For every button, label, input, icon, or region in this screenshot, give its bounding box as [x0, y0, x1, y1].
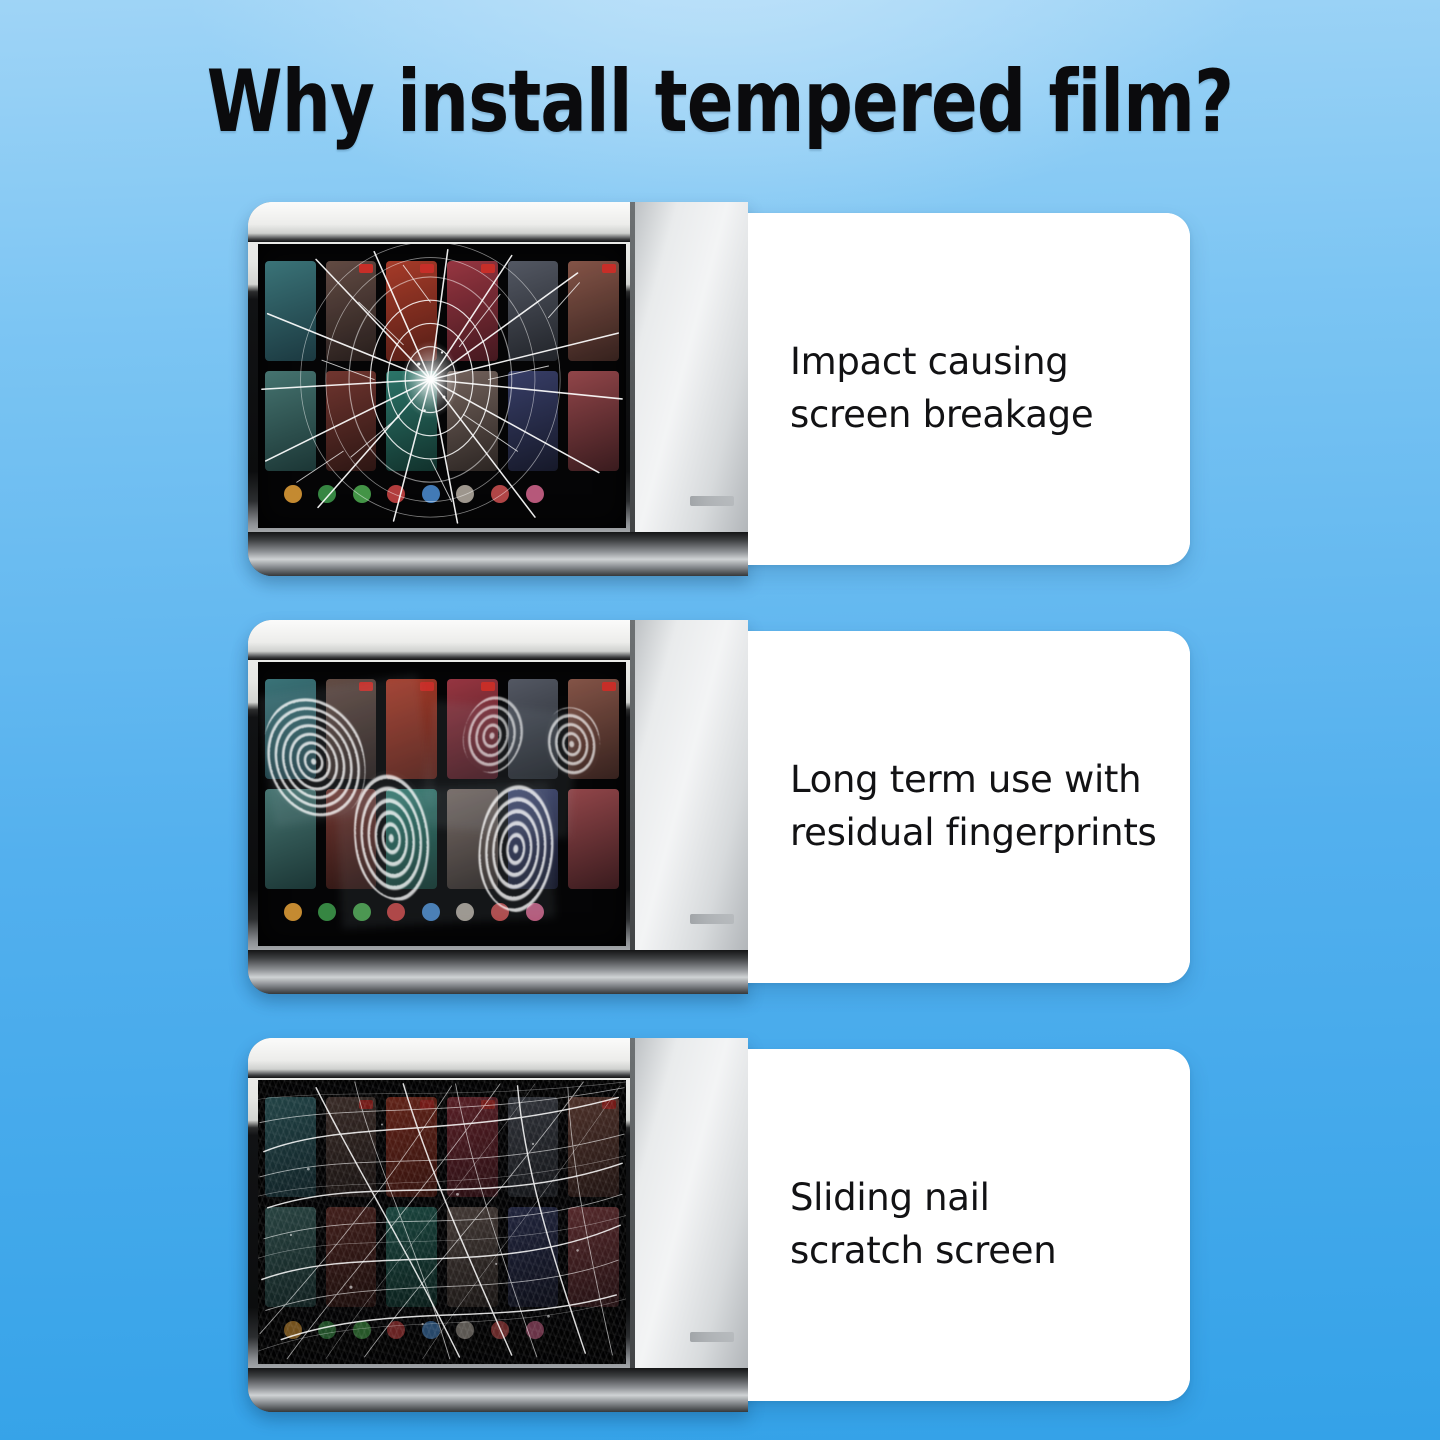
card-caption-scratches: Sliding nail scratch screen [748, 1049, 1190, 1401]
feature-card-impact[interactable]: Impact causing screen breakage [248, 213, 1190, 565]
caption-line-1: Sliding nail [790, 1172, 1056, 1225]
card-caption-fingerprints: Long term use with residual fingerprints [748, 631, 1190, 983]
cracked-car-screen-photo [248, 202, 748, 576]
caption-line-1: Impact causing [790, 336, 1093, 389]
feature-card-fingerprints[interactable]: Long term use with residual fingerprints [248, 631, 1190, 983]
card-caption-impact: Impact causing screen breakage [748, 213, 1190, 565]
feature-card-scratches[interactable]: Sliding nail scratch screen [248, 1049, 1190, 1401]
scratched-car-screen-photo [248, 1038, 748, 1412]
micro-scratch-haze [258, 1080, 626, 1364]
poster-root: Why install tempered film? [0, 0, 1440, 1440]
feature-card-list: Impact causing screen breakage [248, 213, 1190, 1401]
caption-line-2: scratch screen [790, 1225, 1056, 1278]
fingerprint-smudged-screen-photo [248, 620, 748, 994]
caption-line-1: Long term use with [790, 754, 1157, 807]
page-title: Why install tempered film? [144, 52, 1296, 152]
caption-line-2: screen breakage [790, 389, 1093, 442]
caption-line-2: residual fingerprints [790, 807, 1157, 860]
